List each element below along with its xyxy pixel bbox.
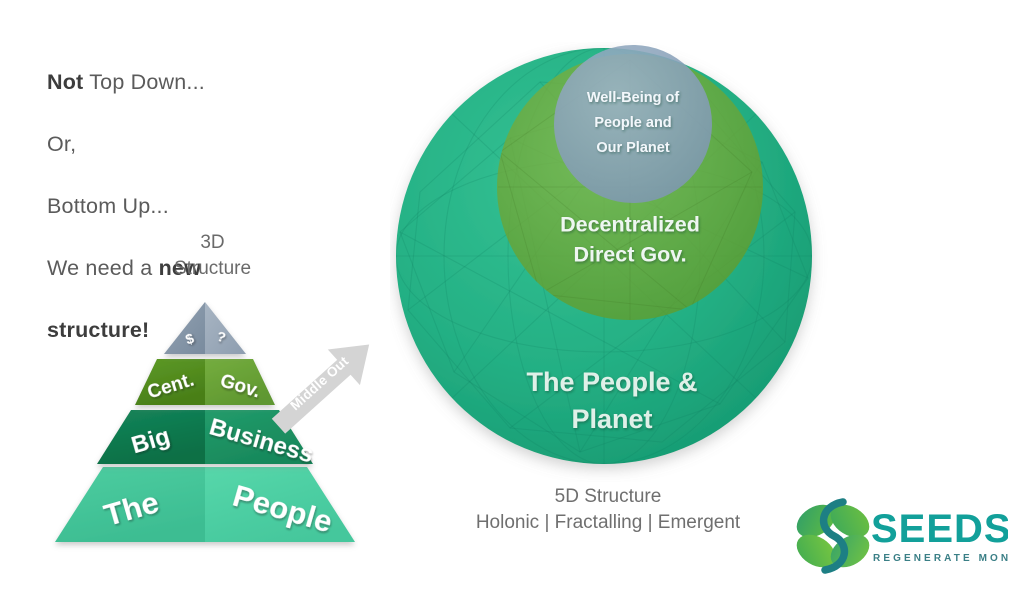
sphere-outer-label-line-1: The People & (526, 367, 697, 397)
seeds-logo-flower-icon (793, 498, 875, 574)
sphere-middle-label-line-1: Decentralized (560, 213, 700, 237)
headline-line-2: Or, (47, 129, 205, 160)
pyramid-caption-line-2: Structure (130, 256, 295, 282)
pyramid-tier-apex-right-face (205, 302, 246, 354)
seeds-logo[interactable]: SEEDS REGENERATE MONEY (793, 492, 1008, 580)
sphere-inner-label-line-1: Well-Being of (587, 90, 680, 106)
sphere-inner-label-line-3: Our Planet (596, 140, 669, 156)
sphere-caption-line-1: 5D Structure (418, 484, 798, 510)
headline-emphasis-not: Not (47, 70, 83, 94)
pyramid-tier-apex[interactable] (164, 302, 246, 354)
headline-line-3: Bottom Up... (47, 191, 205, 222)
sphere-middle-label-line-2: Direct Gov. (573, 243, 686, 267)
pyramid-tier-apex-left-face (164, 302, 205, 354)
middle-out-arrow-label: Middle Out (287, 353, 351, 413)
pyramid-caption: 3D Structure (130, 230, 295, 282)
sphere-inner-label-line-2: People and (594, 115, 671, 131)
seeds-logo-wordmark: SEEDS (871, 507, 1008, 551)
slide-canvas: Not Top Down... Or, Bottom Up... We need… (0, 0, 1019, 606)
headline-line-1: Not Top Down... (47, 67, 205, 98)
sphere-caption-line-2: Holonic | Fractalling | Emergent (418, 510, 798, 536)
pyramid-caption-line-1: 3D (130, 230, 295, 256)
middle-out-arrow[interactable]: Middle Out (262, 318, 402, 438)
sphere-caption: 5D Structure Holonic | Fractalling | Eme… (418, 484, 798, 536)
sphere-diagram: Well-Being of People and Our Planet Dece… (390, 42, 830, 482)
seeds-logo-tagline: REGENERATE MONEY (873, 553, 1008, 564)
sphere-outer-label-line-2: Planet (571, 404, 652, 434)
headline-line-1-rest: Top Down... (83, 70, 205, 94)
